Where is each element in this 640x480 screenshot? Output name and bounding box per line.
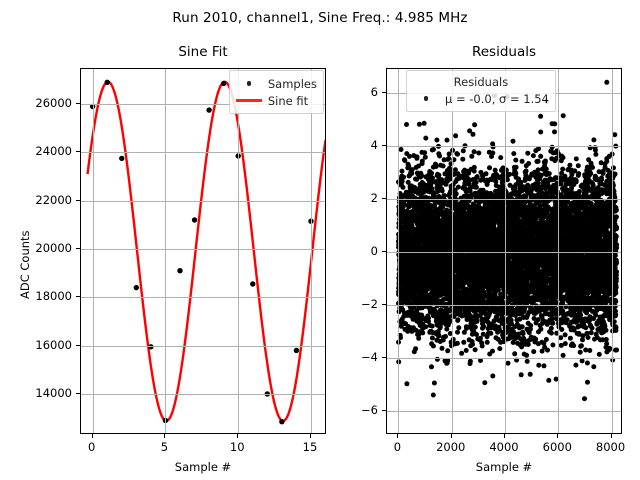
ytick-label: 14000: [20, 386, 72, 400]
residual-point: [468, 359, 473, 364]
residual-point: [431, 147, 436, 152]
legend-label-sine-fit: Sine fit: [268, 94, 308, 108]
sine-fit-axes: [80, 68, 326, 434]
residual-point: [520, 159, 525, 164]
gridline-vertical: [311, 69, 312, 433]
residual-point: [459, 351, 464, 356]
residual-point: [437, 154, 442, 159]
residual-point: [456, 185, 461, 190]
residual-point: [422, 150, 427, 155]
residual-point: [404, 381, 409, 386]
sample-point: [105, 80, 110, 85]
residuals-axes: [386, 68, 622, 434]
residuals-panel: Residuals 02000400060008000 −6−4−20246 S…: [386, 68, 622, 434]
residual-point: [430, 336, 435, 341]
residual-point: [461, 148, 466, 153]
gridline-vertical: [165, 69, 166, 433]
gridline-horizontal: [387, 411, 621, 412]
gridline-horizontal: [81, 346, 325, 347]
residual-point: [524, 169, 529, 174]
xtick-label: 0: [88, 440, 95, 454]
residual-point: [472, 165, 477, 170]
residual-point: [497, 346, 502, 351]
sample-point: [206, 107, 211, 112]
residual-point: [472, 149, 477, 154]
residual-point: [460, 157, 465, 162]
residual-point: [407, 154, 412, 159]
gridline-vertical: [558, 69, 559, 433]
residual-point: [432, 381, 437, 386]
gridline-horizontal: [81, 249, 325, 250]
residual-point: [474, 180, 479, 185]
residual-point: [514, 165, 519, 170]
sine-fit-title: Sine Fit: [80, 44, 326, 60]
residual-point: [485, 340, 490, 345]
residual-point: [436, 334, 441, 339]
residual-point: [469, 154, 474, 159]
sample-point: [177, 268, 182, 273]
sine-fit-panel: Sine Fit 051015 140001600018000200002200…: [80, 68, 326, 434]
ytick-mark: [76, 200, 80, 201]
sine-fit-plot-area: [81, 69, 326, 434]
residual-point: [521, 331, 526, 336]
residual-point: [417, 122, 422, 127]
residual-point: [474, 185, 479, 190]
residual-point: [498, 155, 503, 160]
legend-entry-sine-fit[interactable]: Sine fit: [236, 92, 317, 109]
residual-point: [525, 359, 530, 364]
gridline-horizontal: [81, 394, 325, 395]
residual-point: [419, 173, 424, 178]
residual-point: [434, 138, 439, 143]
residual-point: [445, 138, 450, 143]
residual-point: [481, 324, 486, 329]
ytick-mark: [76, 103, 80, 104]
residual-point: [526, 161, 531, 166]
residual-point: [473, 347, 478, 352]
residual-point: [519, 372, 524, 377]
xtick-mark: [237, 434, 238, 438]
gridline-vertical: [505, 69, 506, 433]
sample-point: [279, 419, 284, 424]
ytick-label: 26000: [20, 96, 72, 110]
legend-entry-samples[interactable]: Samples: [236, 75, 317, 92]
residual-point: [475, 174, 480, 179]
figure-canvas: Run 2010, channel1, Sine Freq.: 4.985 MH…: [0, 0, 640, 480]
sample-point: [192, 217, 197, 222]
residual-point: [453, 133, 458, 138]
residual-point: [422, 121, 427, 126]
gridline-horizontal: [81, 201, 325, 202]
xtick-label: 5: [161, 440, 168, 454]
residual-point: [423, 136, 428, 141]
residual-point: [446, 156, 451, 161]
residual-point: [420, 330, 425, 335]
ytick-mark: [76, 151, 80, 152]
sample-point: [294, 348, 299, 353]
sample-point: [250, 281, 255, 286]
gridline-horizontal: [387, 146, 621, 147]
residual-point: [455, 317, 460, 322]
ytick-mark: [76, 296, 80, 297]
residual-point: [474, 319, 479, 324]
figure-suptitle: Run 2010, channel1, Sine Freq.: 4.985 MH…: [0, 10, 640, 26]
residual-point: [506, 361, 511, 366]
residual-point: [423, 155, 428, 160]
gridline-horizontal: [387, 199, 621, 200]
residual-point: [442, 193, 447, 198]
residual-point: [471, 132, 476, 137]
residual-point: [401, 185, 406, 190]
residual-point: [464, 326, 469, 331]
residual-point: [490, 151, 495, 156]
gridline-horizontal: [387, 252, 621, 253]
ytick-label: 22000: [20, 193, 72, 207]
residual-point: [526, 342, 531, 347]
residual-point: [401, 175, 406, 180]
sine-fit-xlabel: Sample #: [80, 460, 326, 474]
residual-point: [474, 332, 479, 337]
residual-point: [525, 151, 530, 156]
residual-point: [415, 154, 420, 159]
residual-point: [440, 346, 445, 351]
samples-marker-icon: [236, 81, 262, 86]
residual-point: [400, 169, 405, 174]
residual-point: [426, 316, 431, 321]
gridline-vertical: [93, 69, 94, 433]
legend-label-samples: Samples: [268, 77, 317, 91]
residual-point: [512, 351, 517, 356]
residual-point: [445, 348, 450, 353]
xtick-mark: [92, 434, 93, 438]
residual-point: [461, 340, 466, 345]
residual-point: [490, 374, 495, 379]
residual-point: [482, 380, 487, 385]
residual-point: [478, 336, 483, 341]
ytick-label: 16000: [20, 338, 72, 352]
residual-point: [480, 344, 485, 349]
sine-fit-marker-icon: [236, 99, 262, 101]
ytick-mark: [76, 393, 80, 394]
xtick-label: 10: [230, 440, 245, 454]
residual-point: [464, 348, 469, 353]
gridline-horizontal: [81, 152, 325, 153]
xtick-mark: [310, 434, 311, 438]
residual-point: [429, 171, 434, 176]
residual-point: [513, 158, 518, 163]
residual-point: [490, 349, 495, 354]
residuals-title: Residuals: [386, 44, 622, 60]
ytick-mark: [76, 345, 80, 346]
gridline-vertical: [452, 69, 453, 433]
residual-point: [413, 346, 418, 351]
residual-point: [434, 164, 439, 169]
gridline-vertical: [238, 69, 239, 433]
sample-point: [221, 81, 226, 86]
residual-point: [488, 331, 493, 336]
residual-point: [487, 165, 492, 170]
residual-point: [470, 342, 475, 347]
residual-point: [455, 341, 460, 346]
residual-point: [476, 151, 481, 156]
residual-point: [511, 139, 516, 144]
residual-point: [429, 364, 434, 369]
residual-point: [484, 171, 489, 176]
xtick-mark: [164, 434, 165, 438]
gridline-horizontal: [387, 305, 621, 306]
gridline-horizontal: [387, 358, 621, 359]
sample-point: [119, 156, 124, 161]
sample-point: [134, 285, 139, 290]
residual-point: [423, 324, 428, 329]
gridline-vertical: [398, 69, 399, 433]
residual-point: [454, 191, 459, 196]
residual-point: [443, 334, 448, 339]
residual-point: [511, 151, 516, 156]
ytick-label: 24000: [20, 144, 72, 158]
ytick-mark: [76, 248, 80, 249]
residual-point: [520, 324, 525, 329]
residual-point: [455, 330, 460, 335]
residual-point: [456, 325, 461, 330]
residual-point: [431, 393, 436, 398]
residual-point: [431, 344, 436, 349]
residual-point: [507, 172, 512, 177]
residual-point: [472, 122, 477, 127]
residual-point: [440, 188, 445, 193]
residual-point: [441, 164, 446, 169]
residual-point: [473, 325, 478, 330]
residual-point: [524, 353, 529, 358]
sine-fit-ylabel: ADC Counts: [18, 230, 32, 299]
sine-fit-legend[interactable]: Samples Sine fit: [229, 70, 324, 114]
gridline-horizontal: [81, 297, 325, 298]
xtick-label: 15: [303, 440, 318, 454]
residual-point: [455, 152, 460, 157]
gridline-vertical: [612, 69, 613, 433]
residual-point: [430, 324, 435, 329]
residual-point: [404, 122, 409, 127]
sine-fit-curve: [88, 82, 326, 421]
